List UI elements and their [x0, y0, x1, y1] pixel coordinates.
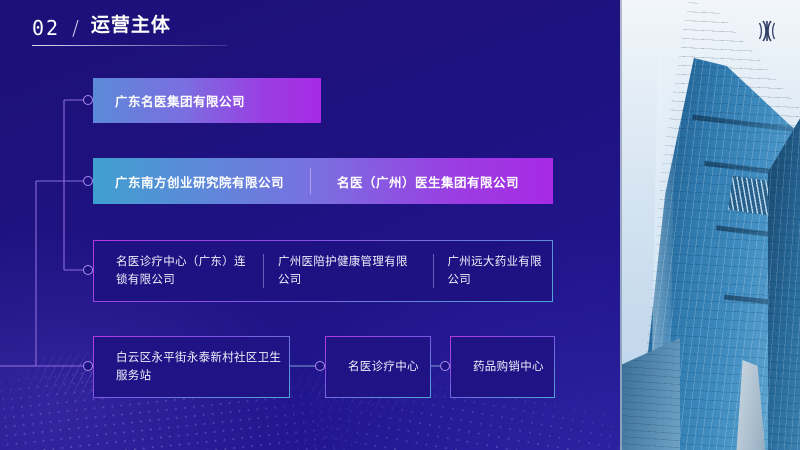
header-underline	[32, 45, 227, 46]
cell-divider	[433, 254, 434, 288]
org-level2-item-0: 广东南方创业研究院有限公司	[115, 172, 284, 191]
org-level4-item-1: 名医诊疗中心	[348, 358, 419, 376]
org-level1-bar[interactable]: 广东名医集团有限公司	[93, 78, 321, 123]
building-photo	[620, 0, 800, 450]
org-level2-item-1: 名医（广州）医生集团有限公司	[337, 172, 519, 191]
org-level4-box-2[interactable]: 药品购销中心	[450, 336, 555, 398]
page-title: 运营主体	[91, 16, 171, 38]
org-level4-box-1[interactable]: 名医诊疗中心	[325, 336, 431, 398]
header-separator-icon: /	[70, 18, 81, 38]
org-level1-item-0: 广东名医集团有限公司	[115, 91, 245, 110]
skyscraper-secondary-grid	[768, 118, 800, 450]
cell-divider	[310, 168, 311, 194]
org-level4-item-2: 药品购销中心	[473, 358, 544, 376]
company-logo-mark-icon	[756, 18, 778, 44]
org-level3-item-2: 广州远大药业有限公司	[448, 253, 553, 289]
section-header: 02 / 运营主体	[32, 16, 171, 38]
org-level3-box[interactable]: 名医诊疗中心（广东）连锁有限公司 广州医陪护健康管理有限公司 广州远大药业有限公…	[93, 240, 553, 302]
org-level2-bar[interactable]: 广东南方创业研究院有限公司 名医（广州）医生集团有限公司	[93, 158, 553, 204]
org-level3-item-0: 名医诊疗中心（广东）连锁有限公司	[116, 253, 249, 289]
org-level4-box-0[interactable]: 白云区永平街永泰新村社区卫生服务站	[93, 336, 290, 398]
org-level3-item-1: 广州医陪护健康管理有限公司	[278, 253, 419, 289]
org-level4-item-0: 白云区永平街永泰新村社区卫生服务站	[116, 349, 289, 385]
section-number: 02	[32, 18, 60, 38]
panel-seam	[620, 0, 622, 450]
cell-divider	[263, 254, 264, 288]
slide-root: 02 / 运营主体	[0, 0, 800, 450]
